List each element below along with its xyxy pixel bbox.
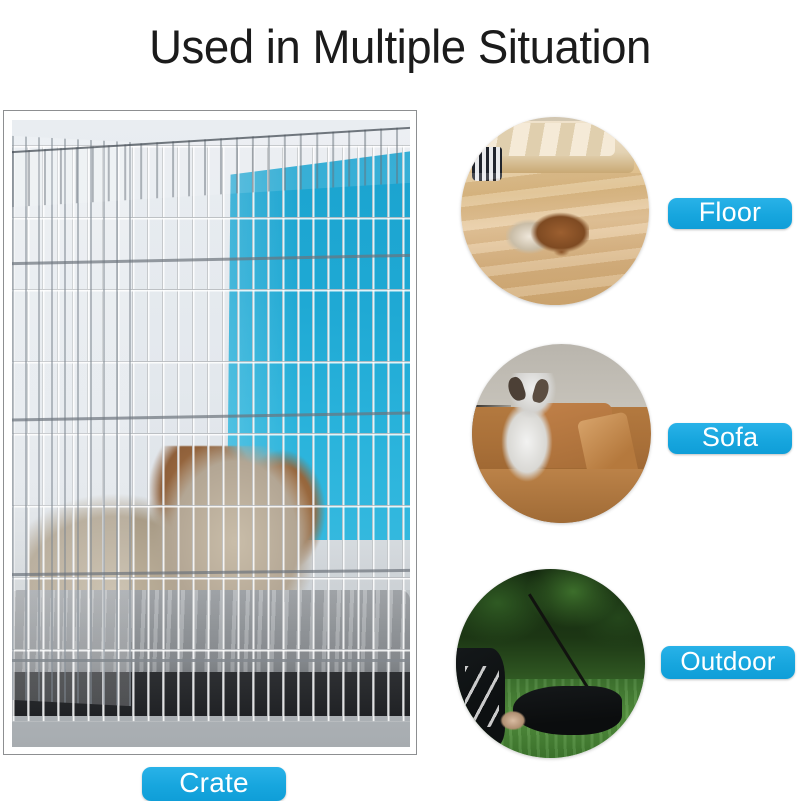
badge-outdoor[interactable]: Outdoor [661,646,795,679]
main-image-frame[interactable] [3,110,417,755]
sofa-scene-dog [497,373,565,484]
floor-scene-cushions [484,123,616,157]
crate-rail-bottom [12,659,410,662]
thumbnail-sofa[interactable] [472,344,651,523]
thumbnail-outdoor[interactable] [456,569,645,758]
page-title: Used in Multiple Situation [12,18,788,76]
outdoor-scene-dog [513,686,623,735]
outdoor-scene-hand [498,709,528,732]
outdoor-scene-person [456,648,505,746]
badge-sofa[interactable]: Sofa [668,423,792,454]
thumbnail-floor[interactable] [461,117,649,305]
badge-floor[interactable]: Floor [668,198,792,229]
floor-scene-dog [506,211,589,260]
main-image-crate-photo[interactable] [12,120,410,747]
badge-crate[interactable]: Crate [142,767,286,801]
